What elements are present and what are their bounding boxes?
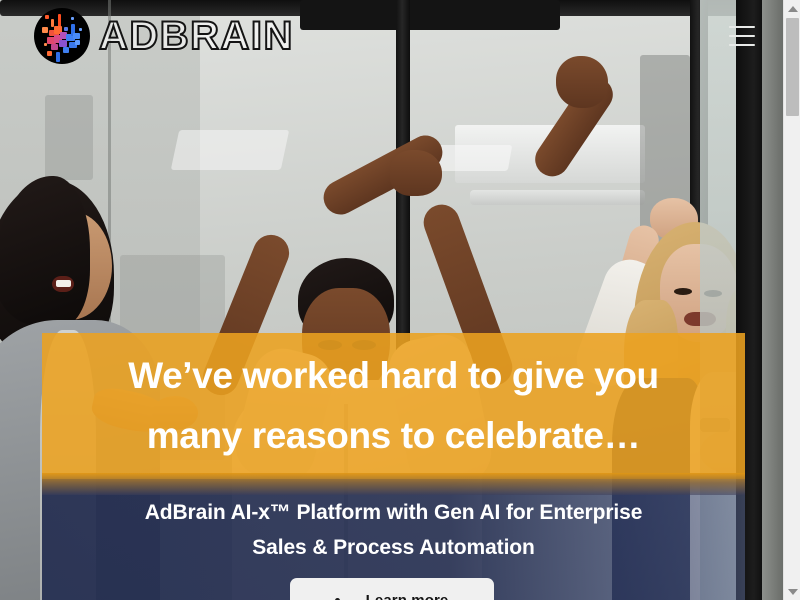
hero-headline-banner: We’ve worked hard to give you many reaso… xyxy=(42,333,745,479)
site-header: ADBRAIN xyxy=(0,0,783,72)
learn-more-label: Learn more xyxy=(366,592,449,600)
hero-subtitle-line-1: AdBrain AI-x™ Platform with Gen AI for E… xyxy=(64,495,724,530)
brand-logo[interactable]: ADBRAIN xyxy=(34,8,294,64)
adbrain-neural-sphere-icon xyxy=(34,8,90,64)
brand-name: ADBRAIN xyxy=(99,16,294,56)
hero-headline-line-1: We’ve worked hard to give you xyxy=(42,346,745,406)
hero-headline-line-2: many reasons to celebrate… xyxy=(42,406,745,466)
webpage-content: ADBRAIN We’ve worked hard to give you ma… xyxy=(0,0,783,600)
vertical-scrollbar[interactable] xyxy=(783,0,800,600)
learn-more-button[interactable]: Learn more xyxy=(290,578,494,600)
hero-cta-container: Learn more xyxy=(0,578,783,600)
hero-subtitle-line-2: Sales & Process Automation xyxy=(64,530,724,565)
triangle-up-icon[interactable] xyxy=(784,0,800,17)
hamburger-menu-icon[interactable] xyxy=(729,26,755,46)
scrollbar-thumb[interactable] xyxy=(786,18,799,116)
browser-viewport: ADBRAIN We’ve worked hard to give you ma… xyxy=(0,0,800,600)
triangle-down-icon[interactable] xyxy=(784,583,800,600)
